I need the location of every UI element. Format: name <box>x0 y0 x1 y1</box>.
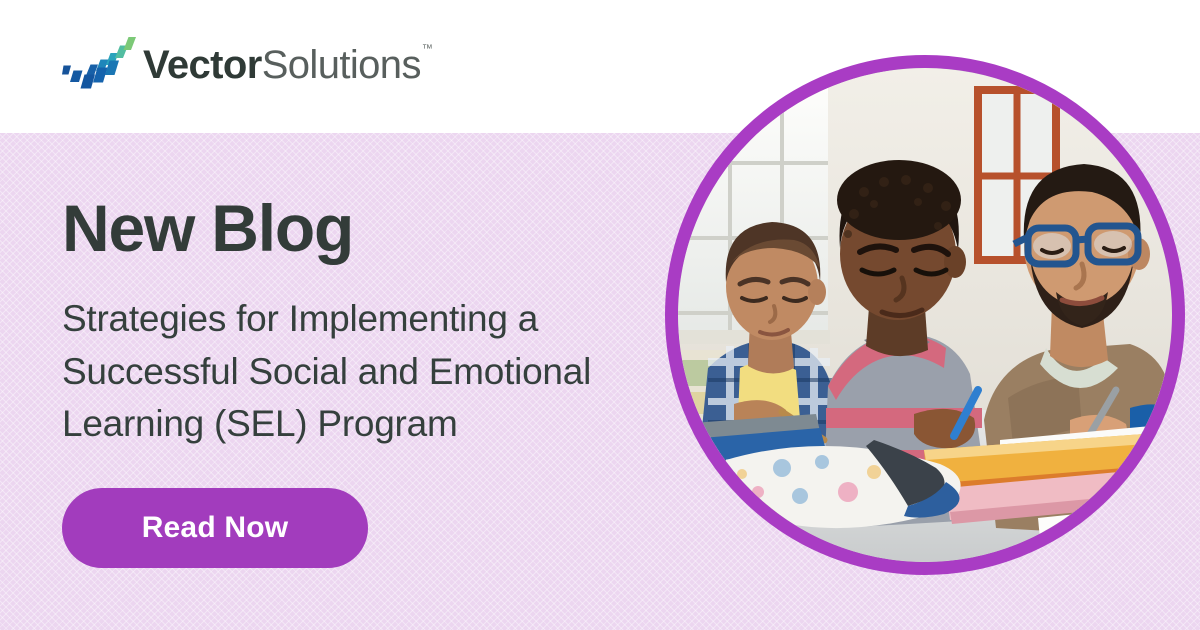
classroom-photo-circle <box>665 55 1185 575</box>
headline-text: Strategies for Implementing a Successful… <box>62 293 652 451</box>
logo-word-solutions: Solutions <box>262 43 421 87</box>
vector-chevron-icon <box>62 34 136 92</box>
classroom-photo <box>678 68 1172 562</box>
logo-wordmark: VectorSolutions™ <box>143 45 431 85</box>
eyebrow-heading: New Blog <box>62 195 353 261</box>
vector-solutions-logo[interactable]: VectorSolutions™ <box>62 33 431 93</box>
read-now-button[interactable]: Read Now <box>62 488 368 568</box>
trademark-symbol: ™ <box>422 43 432 55</box>
text-column: New Blog Strategies for Implementing a S… <box>62 133 662 630</box>
logo-word-vector: Vector <box>143 43 262 87</box>
blog-promo-card: VectorSolutions™ New Blog Strategies for… <box>0 0 1200 630</box>
